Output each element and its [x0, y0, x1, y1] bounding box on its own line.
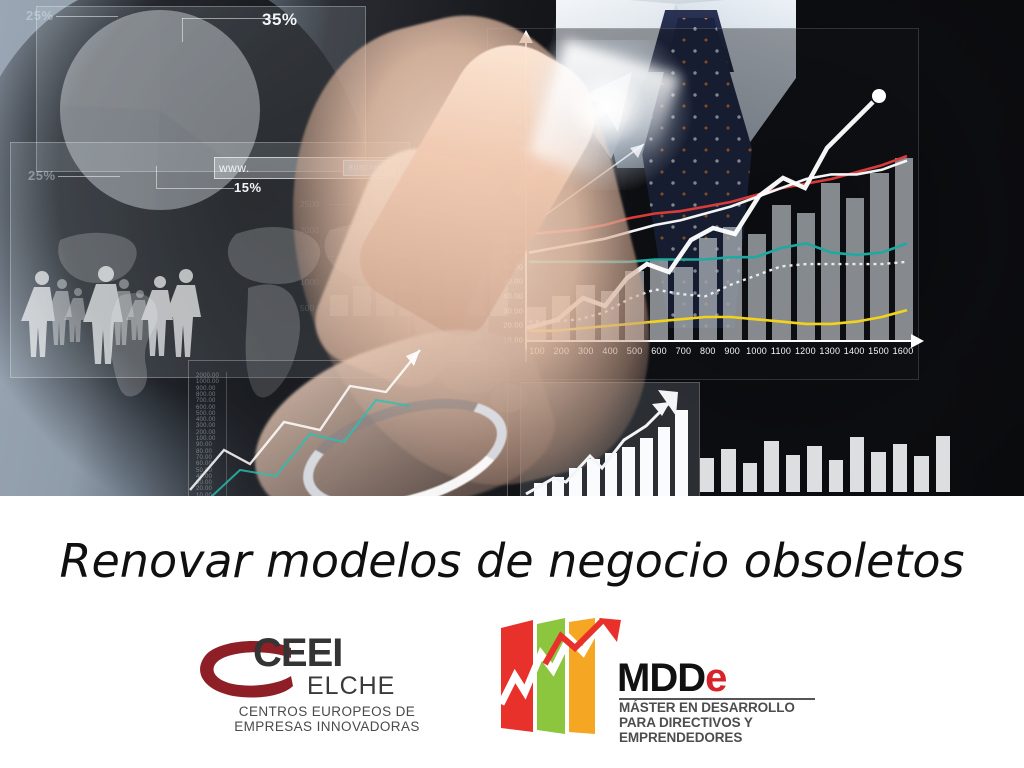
primary-chart-xtick: 800	[700, 346, 716, 356]
pie-leader-line-25b	[58, 176, 120, 177]
primary-chart-xtick: 1600	[893, 346, 914, 356]
primary-chart-bar	[723, 227, 742, 340]
tiny-bar	[764, 441, 778, 492]
primary-chart-xtick: 1300	[819, 346, 840, 356]
tiny-bar	[743, 463, 757, 492]
mdde-wordmark: MDDe	[617, 656, 726, 701]
primary-chart-bar	[650, 260, 669, 340]
mdde-logo: MDDe MÁSTER EN DESARROLLO PARA DIRECTIVO…	[499, 618, 829, 738]
ceei-tagline-line-2: EMPRESAS INNOVADORAS	[217, 719, 437, 734]
pie-leader-line-35	[182, 18, 274, 19]
primary-chart-bar	[699, 238, 718, 340]
primary-chart-xtick: 900	[724, 346, 740, 356]
primary-chart-bar	[748, 234, 767, 340]
ceei-wordmark: CEEI	[253, 631, 342, 676]
mdde-tagline-line-2: PARA DIRECTIVOS Y EMPRENDEDORES	[619, 715, 829, 745]
tiny-bar	[893, 444, 907, 492]
primary-chart-xtick: 1500	[868, 346, 889, 356]
primary-chart-bar	[821, 183, 840, 340]
primary-chart-xtick: 600	[651, 346, 667, 356]
pie-label-25-top: 25%	[26, 8, 54, 23]
mdde-tagline-line-1: MÁSTER EN DESARROLLO	[619, 700, 795, 715]
pie-chart	[60, 10, 260, 210]
logo-row: CEEI ELCHE CENTROS EUROPEOS DE EMPRESAS …	[0, 618, 1024, 738]
mdde-bars-icon	[499, 618, 627, 736]
growth-arrow-icon	[520, 382, 700, 496]
ceei-tagline: CENTROS EUROPEOS DE EMPRESAS INNOVADORAS	[217, 704, 437, 734]
tiny-bar	[700, 458, 714, 492]
pie-leader-tick-15	[156, 166, 157, 188]
tiny-bar	[829, 460, 843, 492]
overlay-polylines	[180, 330, 540, 496]
highlight-growth-endpoint	[872, 89, 886, 103]
pie-chart-slices	[60, 10, 260, 210]
ceei-logo: CEEI ELCHE CENTROS EUROPEOS DE EMPRESAS …	[195, 618, 445, 736]
page-title: Renovar modelos de negocio obsoletos	[0, 534, 1024, 588]
primary-chart-bar	[772, 205, 791, 340]
hero-image: 35% 15% 25% 25% www. BUSCAR 2500 2000	[0, 0, 1024, 496]
mdde-wordmark-dark: MDD	[617, 656, 705, 700]
primary-chart-xtick: 1000	[746, 346, 767, 356]
primary-chart-xtick: 1400	[844, 346, 865, 356]
primary-chart-xtick: 1200	[795, 346, 816, 356]
tiny-bar	[807, 446, 821, 492]
primary-chart-xtick: 700	[676, 346, 692, 356]
tiny-bar	[871, 452, 885, 492]
primary-chart-bar	[846, 198, 865, 340]
pie-label-25-bottom: 25%	[28, 168, 56, 183]
pie-leader-line-25a	[56, 16, 118, 17]
primary-chart-bar	[797, 213, 816, 340]
primary-chart-bar	[895, 158, 914, 340]
tiny-bar	[850, 437, 864, 492]
primary-chart-bar	[870, 173, 889, 340]
growth-bar-chart	[520, 382, 700, 496]
primary-chart-xtick: 1100	[771, 346, 791, 356]
tiny-bar	[721, 449, 735, 492]
tiny-bar	[914, 456, 928, 492]
pie-label-35: 35%	[262, 10, 298, 30]
pie-leader-tick-35	[182, 18, 183, 42]
ceei-tagline-line-1: CENTROS EUROPEOS DE	[217, 704, 437, 719]
tiny-bar-ticks	[700, 430, 950, 492]
pie-leader-line-15	[156, 188, 234, 189]
content-area: Renovar modelos de negocio obsoletos CEE…	[0, 496, 1024, 768]
tiny-bar	[936, 436, 950, 492]
mdde-wordmark-accent: e	[705, 656, 726, 700]
tiny-bar	[786, 455, 800, 492]
slide-root: 35% 15% 25% 25% www. BUSCAR 2500 2000	[0, 0, 1024, 768]
ceei-city: ELCHE	[307, 672, 395, 701]
primary-chart-bar	[674, 267, 693, 340]
pie-label-15: 15%	[234, 180, 262, 195]
